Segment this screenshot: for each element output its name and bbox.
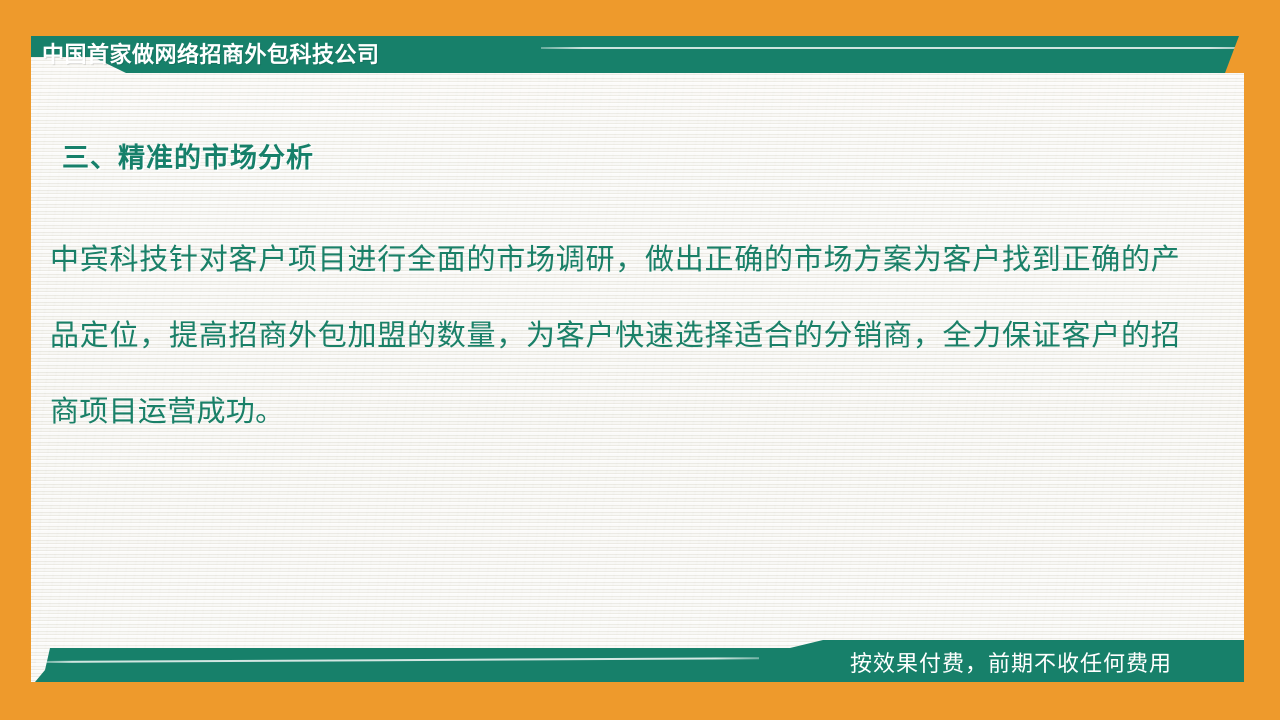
left-orange-band xyxy=(0,0,31,720)
section-heading: 三、精准的市场分析 xyxy=(62,136,314,175)
right-orange-band xyxy=(1244,0,1280,720)
header-accent-rule xyxy=(541,47,1244,49)
header-company-slogan: 中国首家做网络招商外包科技公司 xyxy=(42,38,380,71)
presentation-slide: 中国首家做网络招商外包科技公司 三、精准的市场分析 中宾科技针对客户项目进行全面… xyxy=(0,0,1280,720)
footer-tagline: 按效果付费，前期不收任何费用 xyxy=(850,646,1172,682)
body-paragraph: 中宾科技针对客户项目进行全面的市场调研，做出正确的市场方案为客户找到正确的产品定… xyxy=(50,222,1180,450)
bottom-orange-band xyxy=(0,682,1280,720)
top-orange-band xyxy=(0,0,1280,36)
